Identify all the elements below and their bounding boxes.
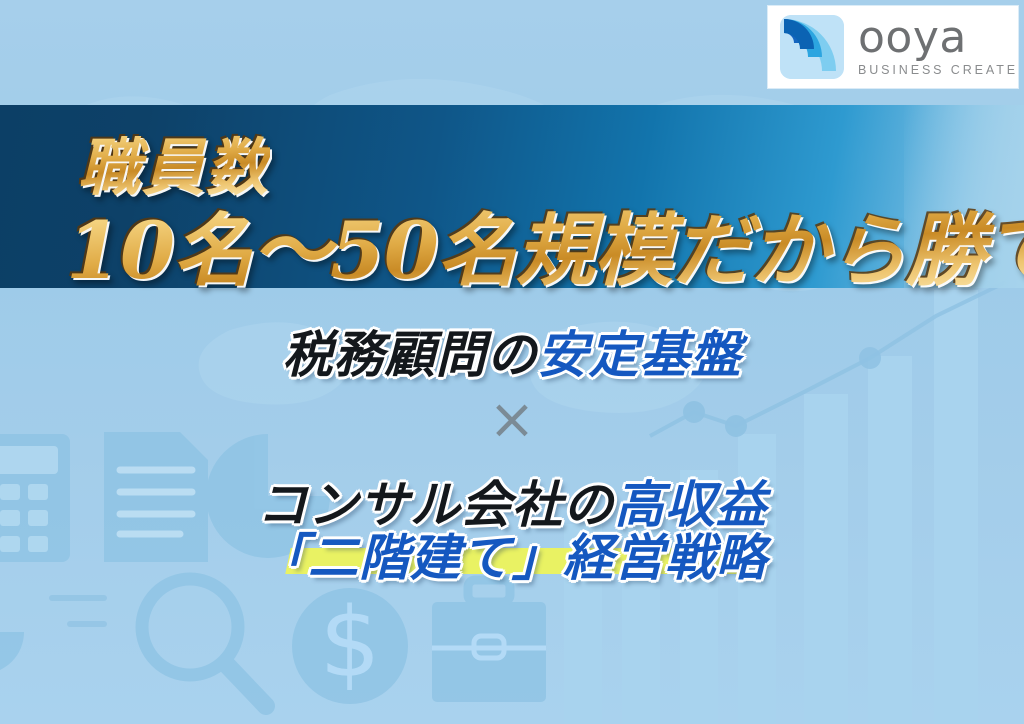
ooya-arc-mark-icon <box>780 15 844 79</box>
svg-text:$: $ <box>319 587 380 699</box>
brand-logo: ooya BUSINESS CREATE <box>768 6 1018 88</box>
multiply-icon: × <box>0 392 1024 448</box>
slide-canvas: $ 職員数 10名〜50名規模だから勝てる! 税務顧問の安定基盤 × コンサル会… <box>0 0 1024 724</box>
subtitle-line-1-black: 税務顧問の <box>283 326 538 384</box>
subtitle-line-3: 「二階建て」経営戦略 <box>0 518 1024 590</box>
headline-line-2: 10名〜50名規模だから勝てる! <box>66 186 1024 301</box>
subtitle-line-1: 税務顧問の安定基盤 <box>0 315 1024 387</box>
logo-tagline: BUSINESS CREATE <box>858 63 1018 77</box>
logo-wordmark: ooya <box>858 17 1018 58</box>
subtitle-line-1-blue: 安定基盤 <box>538 326 742 384</box>
